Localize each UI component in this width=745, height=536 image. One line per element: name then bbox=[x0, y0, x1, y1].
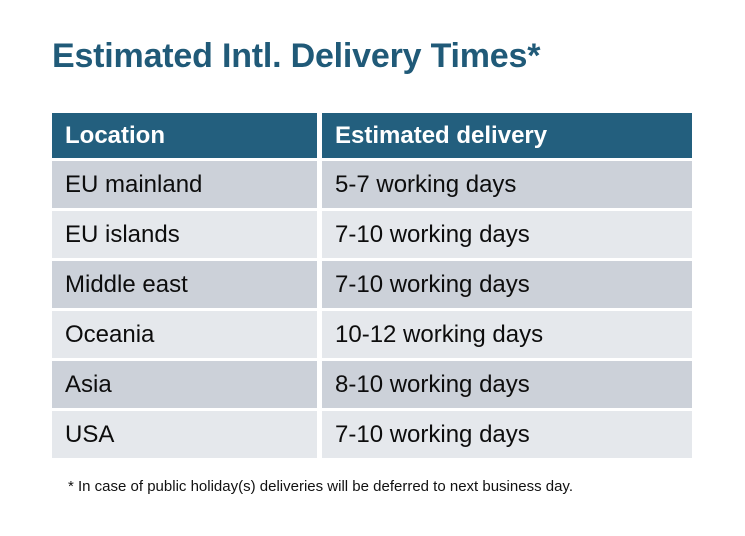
cell-delivery: 5-7 working days bbox=[322, 161, 692, 208]
cell-location: Middle east bbox=[52, 261, 317, 308]
cell-delivery: 7-10 working days bbox=[322, 261, 692, 308]
table-row: Oceania 10-12 working days bbox=[52, 311, 692, 358]
cell-location: Oceania bbox=[52, 311, 317, 358]
delivery-times-card: Estimated Intl. Delivery Times* Location… bbox=[0, 0, 745, 536]
cell-delivery: 7-10 working days bbox=[322, 411, 692, 458]
cell-delivery: 10-12 working days bbox=[322, 311, 692, 358]
table-row: EU mainland 5-7 working days bbox=[52, 161, 692, 208]
delivery-times-table: Location Estimated delivery EU mainland … bbox=[52, 113, 692, 461]
table-row: Asia 8-10 working days bbox=[52, 361, 692, 408]
column-header-location: Location bbox=[52, 113, 317, 158]
cell-delivery: 8-10 working days bbox=[322, 361, 692, 408]
table-header-row: Location Estimated delivery bbox=[52, 113, 692, 158]
cell-delivery: 7-10 working days bbox=[322, 211, 692, 258]
footnote-text: * In case of public holiday(s) deliverie… bbox=[68, 478, 573, 495]
page-title: Estimated Intl. Delivery Times* bbox=[52, 36, 540, 76]
table-row: EU islands 7-10 working days bbox=[52, 211, 692, 258]
cell-location: USA bbox=[52, 411, 317, 458]
table-row: USA 7-10 working days bbox=[52, 411, 692, 458]
cell-location: EU islands bbox=[52, 211, 317, 258]
column-header-estimated-delivery: Estimated delivery bbox=[322, 113, 692, 158]
table-row: Middle east 7-10 working days bbox=[52, 261, 692, 308]
cell-location: EU mainland bbox=[52, 161, 317, 208]
cell-location: Asia bbox=[52, 361, 317, 408]
